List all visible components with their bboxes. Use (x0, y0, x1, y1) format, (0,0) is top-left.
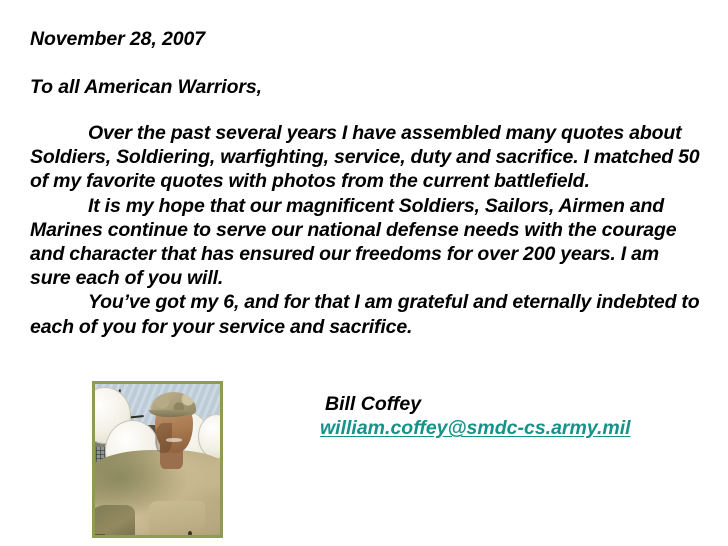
slide-canvas: November 28, 2007 To all American Warrio… (0, 0, 728, 546)
signature-block: Bill Coffey william.coffey@smdc-cs.army.… (325, 392, 631, 440)
letter-paragraph-2: It is my hope that our magnificent Soldi… (30, 194, 702, 291)
letter-paragraph-1: Over the past several years I have assem… (30, 121, 702, 194)
soldier-mouth (166, 438, 183, 442)
letter-paragraph-3: You’ve got my 6, and for that I am grate… (30, 290, 702, 338)
signature-name: Bill Coffey (325, 392, 631, 416)
photo-inner (95, 384, 220, 535)
letter-date: November 28, 2007 (30, 27, 702, 51)
soldier-shoulder (95, 505, 135, 535)
soldier-vest (149, 501, 205, 535)
soldier-photo (92, 381, 223, 538)
vest-fastener (188, 531, 192, 535)
signature-email-link[interactable]: william.coffey@smdc-cs.army.mil (320, 416, 631, 440)
soldier-torso (95, 450, 220, 535)
letter-salutation: To all American Warriors, (30, 75, 702, 99)
letter-body: November 28, 2007 To all American Warrio… (30, 27, 702, 339)
